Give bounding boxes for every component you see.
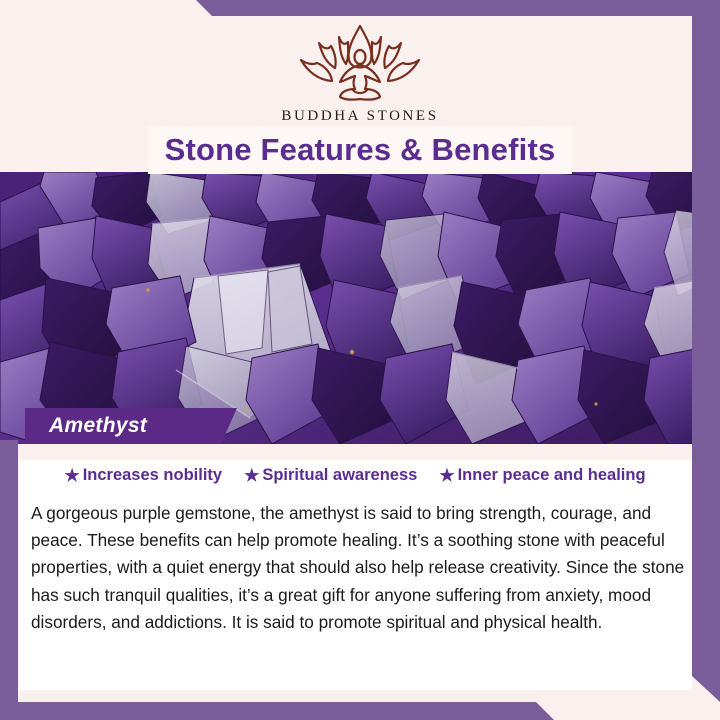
lotus-meditation-icon bbox=[285, 20, 435, 104]
star-icon: ★ bbox=[439, 467, 454, 484]
benefit-item: ★ Increases nobility bbox=[64, 466, 222, 485]
page-title: Stone Features & Benefits bbox=[165, 132, 556, 168]
benefit-item: ★ Inner peace and healing bbox=[439, 466, 645, 485]
amethyst-crystal-illustration bbox=[0, 172, 720, 444]
star-icon: ★ bbox=[244, 467, 259, 484]
stone-name-label: Amethyst bbox=[25, 408, 237, 444]
benefits-list: ★ Increases nobility ★ Spiritual awarene… bbox=[18, 466, 692, 485]
card-top-tint bbox=[18, 444, 692, 460]
benefit-label: Increases nobility bbox=[83, 466, 222, 485]
stone-description: A gorgeous purple gemstone, the amethyst… bbox=[31, 500, 685, 636]
stone-details-card: ★ Increases nobility ★ Spiritual awarene… bbox=[18, 444, 692, 690]
frame-band-right bbox=[692, 16, 720, 702]
frame-band-bottom bbox=[0, 702, 720, 720]
brand-logo: BUDDHA STONES bbox=[0, 20, 720, 125]
header-section: BUDDHA STONES Stone Features & Benefits bbox=[0, 0, 720, 172]
frame-band-left bbox=[0, 440, 18, 702]
benefit-label: Spiritual awareness bbox=[262, 466, 417, 485]
brand-name: BUDDHA STONES bbox=[0, 108, 720, 125]
benefit-label: Inner peace and healing bbox=[458, 466, 646, 485]
star-icon: ★ bbox=[64, 467, 79, 484]
benefit-item: ★ Spiritual awareness bbox=[244, 466, 417, 485]
infographic-page: BUDDHA STONES Stone Features & Benefits bbox=[0, 0, 720, 720]
amethyst-photo bbox=[0, 172, 720, 444]
page-title-panel: Stone Features & Benefits bbox=[148, 126, 572, 174]
